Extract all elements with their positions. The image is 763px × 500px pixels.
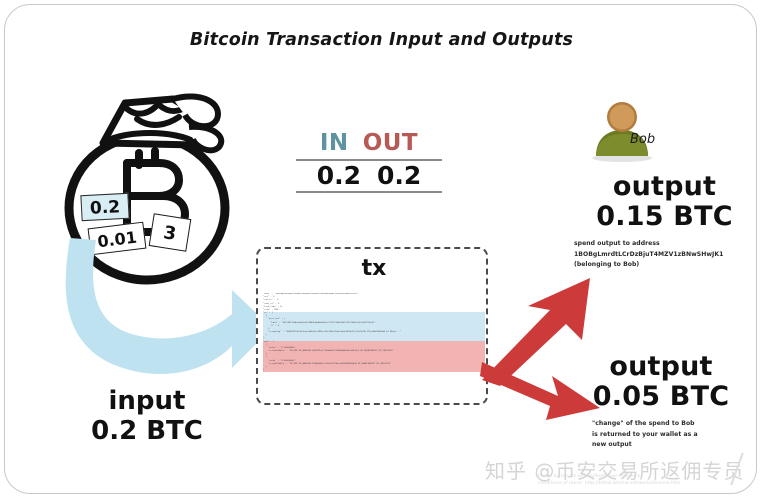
tx-code-output-section: "out" : [ { "value" : "0.15000000", "scr… [263, 341, 485, 373]
tx-json-code: "hash" : "f4b7dqw1de5bbce1nd6df7abe0d97f… [263, 293, 485, 372]
output-2-block: output 0.05 BTC "change" of the spend to… [566, 352, 756, 451]
in-out-summary-table: IN OUT 0.2 0.2 [296, 130, 442, 193]
in-out-values: 0.2 0.2 [296, 163, 442, 189]
output-1-word: output [572, 172, 757, 202]
bob-avatar [578, 96, 698, 164]
tx-code-input-section: "in" : [ { "prev_out" : { "hash" : "b37f… [263, 312, 485, 341]
in-out-headers: IN OUT [296, 130, 442, 156]
output-2-word: output [566, 352, 756, 382]
input-flow-arrow-icon [56, 222, 278, 392]
coin-label-0-2: 0.2 [80, 193, 129, 221]
output-1-note: spend output to address 1BOBgLmrdtLCrDzB… [572, 239, 757, 271]
in-value: 0.2 [317, 163, 361, 189]
transaction-box: tx "hash" : "f4b7dqw1de5bbce1nd6df7abe0d… [256, 247, 488, 405]
out-header: OUT [363, 130, 418, 156]
tx-code-header: "hash" : "f4b7dqw1de5bbce1nd6df7abe0d97f… [263, 293, 359, 311]
bob-name-label: Bob [630, 132, 655, 147]
in-header: IN [320, 130, 349, 156]
output-2-amount: 0.05 BTC [566, 382, 756, 412]
diagram-canvas: Bitcoin Transaction Input and Outputs [0, 0, 763, 500]
page-title: Bitcoin Transaction Input and Outputs [0, 30, 763, 50]
table-rule-bottom [296, 191, 442, 193]
out-value: 0.2 [377, 163, 421, 189]
output-1-amount: 0.15 BTC [572, 202, 757, 232]
tx-label: tx [258, 256, 490, 281]
output-2-note: "change" of the spend to Bob is returned… [566, 419, 756, 451]
input-amount: 0.2 BTC [62, 416, 232, 446]
input-label-block: input 0.2 BTC [62, 386, 232, 446]
input-word: input [62, 386, 232, 416]
output-1-block: output 0.15 BTC spend output to address … [572, 172, 757, 271]
image-credit-watermark: image by bitcoin.org/en/developer-refere… [538, 473, 680, 488]
